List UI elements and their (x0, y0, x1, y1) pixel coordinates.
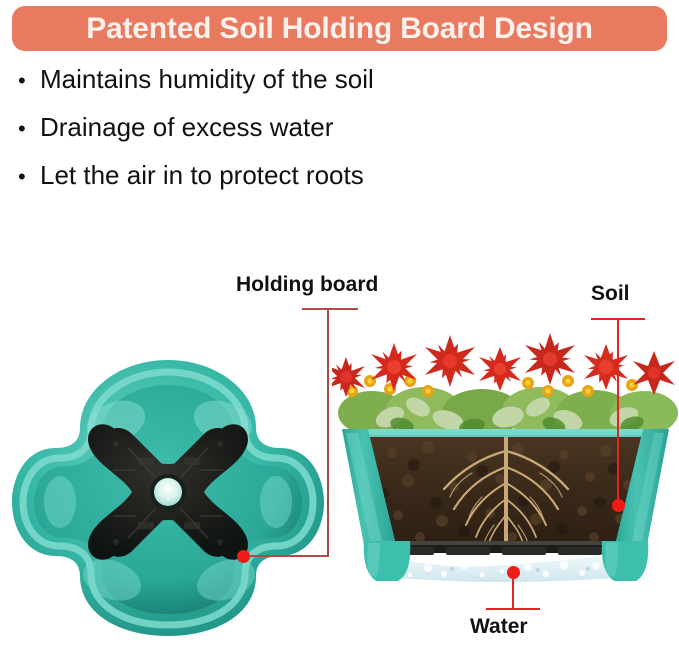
bullet-icon: • (18, 70, 40, 92)
cross-section-planter-image (332, 325, 679, 590)
page-title: Patented Soil Holding Board Design (86, 14, 593, 44)
holding-board (372, 541, 640, 555)
top-view-planter-image (8, 352, 328, 642)
bullet-icon: • (18, 166, 40, 188)
leader-cap-holding-board (302, 308, 358, 310)
infographic-page: Patented Soil Holding Board Design • Mai… (0, 0, 679, 646)
callout-label-water: Water (470, 616, 528, 637)
drain-hole (150, 474, 186, 510)
callout-label-holding-board: Holding board (236, 274, 378, 295)
plant-foliage (332, 333, 678, 437)
product-figure: Holding board Soil Water (0, 230, 679, 646)
feature-text: Drainage of excess water (40, 114, 333, 140)
list-item: • Maintains humidity of the soil (18, 66, 638, 114)
marker-dot-water (507, 566, 520, 579)
title-banner: Patented Soil Holding Board Design (12, 6, 667, 51)
callout-label-soil: Soil (591, 283, 630, 304)
feature-text: Let the air in to protect roots (40, 162, 364, 188)
red-chrysanthemums (332, 333, 675, 397)
leader-line-soil (617, 318, 619, 506)
list-item: • Drainage of excess water (18, 114, 638, 162)
list-item: • Let the air in to protect roots (18, 162, 638, 210)
marker-dot-holding-board (237, 550, 250, 563)
leader-line-holding-board-horizontal (243, 555, 329, 557)
feature-list: • Maintains humidity of the soil • Drain… (18, 66, 638, 210)
leader-line-holding-board (327, 308, 329, 556)
bullet-icon: • (18, 118, 40, 140)
water-reservoir (380, 553, 632, 582)
marker-dot-soil (612, 499, 625, 512)
feature-text: Maintains humidity of the soil (40, 66, 374, 92)
soil-mass (362, 433, 652, 553)
